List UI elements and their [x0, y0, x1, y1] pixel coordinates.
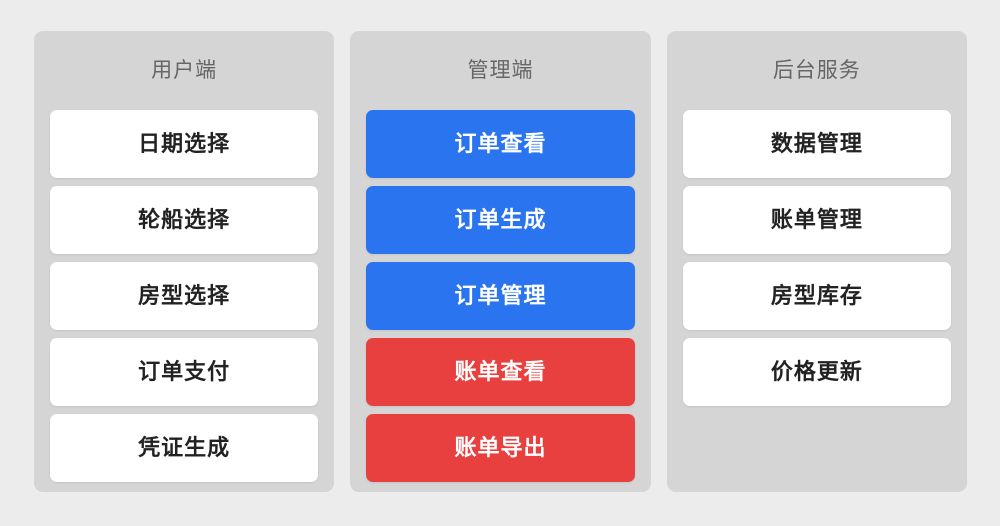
card-label: 账单查看: [454, 361, 546, 383]
column-admin-client: 管理端 订单查看 订单生成 订单管理 账单查看 账单导出: [350, 31, 650, 492]
card-label: 凭证生成: [138, 437, 230, 459]
card-label: 订单支付: [138, 361, 230, 383]
card-order-management[interactable]: 订单管理: [366, 262, 634, 330]
card-bill-view[interactable]: 账单查看: [366, 338, 634, 406]
column-title-user-client: 用户端: [50, 31, 318, 110]
card-bill-management[interactable]: 账单管理: [683, 186, 951, 254]
card-list-admin-client: 订单查看 订单生成 订单管理 账单查看 账单导出: [366, 110, 634, 482]
column-title-backend-service: 后台服务: [683, 31, 951, 110]
card-label: 轮船选择: [138, 209, 230, 231]
card-order-view[interactable]: 订单查看: [366, 110, 634, 178]
column-title-admin-client: 管理端: [366, 31, 634, 110]
card-price-update[interactable]: 价格更新: [683, 338, 951, 406]
module-board: 用户端 日期选择 轮船选择 房型选择 订单支付 凭证生成 管理端 订单查看: [0, 0, 1000, 526]
card-label: 账单导出: [454, 437, 546, 459]
card-label: 房型库存: [771, 285, 863, 307]
card-data-management[interactable]: 数据管理: [683, 110, 951, 178]
card-bill-export[interactable]: 账单导出: [366, 414, 634, 482]
card-label: 订单生成: [454, 209, 546, 231]
column-backend-service: 后台服务 数据管理 账单管理 房型库存 价格更新: [667, 31, 967, 492]
card-label: 账单管理: [771, 209, 863, 231]
card-room-type-selection[interactable]: 房型选择: [50, 262, 318, 330]
card-label: 房型选择: [138, 285, 230, 307]
card-room-type-inventory[interactable]: 房型库存: [683, 262, 951, 330]
card-label: 订单查看: [454, 133, 546, 155]
card-list-user-client: 日期选择 轮船选择 房型选择 订单支付 凭证生成: [50, 110, 318, 482]
card-date-selection[interactable]: 日期选择: [50, 110, 318, 178]
card-voucher-generation[interactable]: 凭证生成: [50, 414, 318, 482]
card-order-payment[interactable]: 订单支付: [50, 338, 318, 406]
column-user-client: 用户端 日期选择 轮船选择 房型选择 订单支付 凭证生成: [34, 31, 334, 492]
card-label: 订单管理: [454, 285, 546, 307]
card-list-backend-service: 数据管理 账单管理 房型库存 价格更新: [683, 110, 951, 406]
card-ship-selection[interactable]: 轮船选择: [50, 186, 318, 254]
card-label: 数据管理: [771, 133, 863, 155]
card-order-generation[interactable]: 订单生成: [366, 186, 634, 254]
card-label: 价格更新: [771, 361, 863, 383]
card-label: 日期选择: [138, 133, 230, 155]
